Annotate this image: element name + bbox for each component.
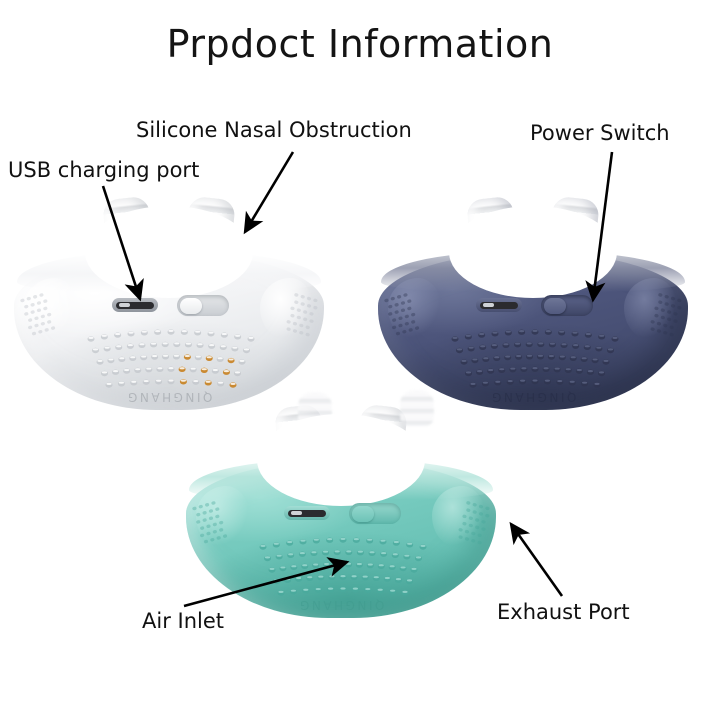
grille-hole-highlight — [582, 382, 587, 384]
side-vent-hole — [658, 293, 663, 297]
side-vent-hole — [667, 317, 672, 321]
grille-hole-highlight — [560, 355, 565, 357]
side-vent-hole — [411, 320, 416, 324]
grille-hole-highlight — [130, 356, 135, 358]
side-vent-hole — [658, 300, 663, 304]
grille-hole-highlight — [291, 565, 296, 567]
side-vent-hole — [292, 321, 297, 325]
grille-hole-highlight — [402, 591, 407, 593]
grille-hole-highlight — [380, 540, 385, 542]
device-teal: QINGHANG — [186, 404, 496, 619]
side-vent-hole — [292, 329, 297, 333]
side-vent-hole — [28, 325, 33, 329]
side-vent-hole — [471, 539, 476, 543]
side-vent-hole — [211, 501, 216, 505]
side-vent-hole — [192, 506, 197, 510]
grille-hole-highlight — [452, 337, 457, 339]
side-vent-hole — [309, 319, 314, 323]
side-vent-hole — [200, 526, 205, 530]
side-vent-hole — [30, 303, 35, 307]
side-vent-hole — [219, 520, 224, 524]
grille-hole-highlight — [573, 344, 578, 346]
side-vent-hole — [477, 540, 482, 544]
grille-hole-highlight — [168, 330, 173, 332]
side-vent-hole — [394, 303, 399, 307]
grille-hole-highlight — [113, 370, 118, 372]
side-vent-hole — [390, 296, 395, 300]
grille-hole-highlight — [378, 589, 383, 591]
grille-hole-highlight — [239, 360, 244, 362]
grille-hole-highlight — [314, 539, 319, 541]
power-switch[interactable] — [177, 295, 229, 316]
grille-hole-highlight — [566, 368, 571, 370]
grille-hole-highlight — [549, 355, 554, 357]
side-vent-hole — [669, 325, 674, 329]
side-vent-hole — [667, 310, 672, 314]
side-vent-hole — [34, 316, 39, 320]
nasal-bridge-notch — [449, 206, 617, 298]
grille-hole-highlight — [285, 578, 290, 580]
grille-hole-highlight — [106, 383, 111, 385]
side-vent-hole — [34, 323, 39, 327]
grille-hole-highlight — [174, 342, 179, 344]
side-vent-hole — [650, 320, 655, 324]
power-switch-knob[interactable] — [180, 298, 202, 314]
grille-hole-highlight — [191, 367, 196, 369]
grille-hole-highlight — [503, 343, 508, 345]
grille-hole-highlight — [400, 566, 405, 568]
side-vent-hole — [650, 327, 655, 331]
grille-hole-highlight — [557, 380, 562, 382]
device-navy: QINGHANG — [378, 196, 688, 411]
usb-port-tongue — [119, 303, 130, 307]
side-vent-hole — [462, 521, 467, 525]
grille-hole-highlight — [88, 337, 93, 339]
grille-hole-highlight — [156, 380, 161, 382]
grille-hole-highlight — [340, 575, 345, 577]
side-vent-hole — [290, 306, 295, 310]
grille-hole-highlight — [466, 335, 471, 337]
side-vent-hole — [479, 504, 484, 508]
grille-hole-highlight — [302, 564, 307, 566]
side-vent-hole — [664, 302, 669, 306]
side-vent-hole — [313, 298, 318, 302]
grille-hole-highlight — [538, 355, 543, 357]
grille-hole-highlight — [532, 379, 537, 381]
product-infographic: Prpdoct Information QINGHANG — [0, 0, 720, 720]
side-vent-hole — [475, 525, 480, 529]
grille-hole-highlight — [358, 551, 363, 553]
grille-hole-highlight — [416, 556, 421, 558]
grille-hole-highlight — [244, 348, 249, 350]
side-vent-hole — [472, 510, 477, 514]
side-vent-hole — [47, 312, 52, 316]
side-vent-hole — [673, 319, 678, 323]
power-switch[interactable] — [349, 503, 401, 524]
grille-hole-highlight — [570, 381, 575, 383]
side-vent-hole — [208, 516, 213, 520]
side-vent-hole — [219, 528, 224, 532]
grille-hole-highlight — [492, 344, 497, 346]
grille-hole-highlight — [357, 563, 362, 565]
side-vent-hole — [407, 299, 412, 303]
side-vent-hole — [28, 318, 33, 322]
power-switch-knob[interactable] — [352, 506, 374, 522]
side-vent-hole — [36, 301, 41, 305]
side-vent-hole — [300, 302, 305, 306]
grille-hole-highlight — [340, 538, 345, 540]
grille-hole-highlight — [582, 357, 587, 359]
side-vent-hole — [299, 323, 304, 327]
side-vent-hole — [663, 331, 668, 335]
grille-hole-highlight — [483, 357, 488, 359]
grille-hole-highlight — [572, 332, 577, 334]
grille-hole-highlight — [174, 355, 179, 357]
grille-hole-highlight — [354, 538, 359, 540]
side-vent-hole — [477, 533, 482, 537]
side-vent-hole — [313, 305, 318, 309]
grille-hole-highlight — [505, 355, 510, 357]
grille-hole-highlight — [532, 330, 537, 332]
grille-hole-highlight — [288, 553, 293, 555]
side-vent-hole — [39, 293, 44, 297]
side-vent-hole — [36, 308, 41, 312]
grille-hole-highlight — [316, 588, 321, 590]
grille-hole-highlight — [477, 370, 482, 372]
nasal-bridge-notch — [257, 414, 425, 506]
side-vent-hole — [26, 296, 31, 300]
grille-hole-highlight — [141, 355, 146, 357]
side-vent-hole — [671, 296, 676, 300]
grille-hole-highlight — [508, 380, 513, 382]
grille-hole-highlight — [480, 345, 485, 347]
grille-hole-highlight — [105, 347, 110, 349]
grille-hole-highlight — [411, 568, 416, 570]
side-vent-hole — [206, 524, 211, 528]
grille-hole-highlight — [208, 332, 213, 334]
grille-hole-highlight — [157, 367, 162, 369]
grille-hole-highlight — [318, 575, 323, 577]
nasal-bridge-notch — [85, 206, 253, 298]
side-vent-hole — [38, 330, 43, 334]
grille-hole-highlight — [469, 347, 474, 349]
side-vent-hole — [303, 317, 308, 321]
grille-hole-highlight — [328, 588, 333, 590]
grille-hole-highlight — [599, 371, 604, 373]
callout-label-exhaust-port: Exhaust Port — [497, 600, 630, 624]
side-vent-hole — [400, 301, 405, 305]
grille-hole-highlight — [230, 383, 235, 385]
device-body-teal: QINGHANG — [186, 460, 496, 618]
brand-wordmark: QINGHANG — [14, 390, 324, 404]
grille-hole-highlight — [532, 367, 537, 369]
grille-hole-highlight — [499, 368, 504, 370]
grille-hole-highlight — [492, 332, 497, 334]
grille-hole-highlight — [185, 355, 190, 357]
grille-hole-highlight — [483, 382, 488, 384]
grille-hole-highlight — [195, 331, 200, 333]
grille-hole-highlight — [577, 369, 582, 371]
grille-hole-highlight — [472, 358, 477, 360]
grille-hole-highlight — [346, 550, 351, 552]
grille-hole-highlight — [300, 540, 305, 542]
side-vent-hole — [656, 329, 661, 333]
side-vent-hole — [392, 318, 397, 322]
page-title: Prpdoct Information — [0, 22, 720, 66]
side-vent-hole — [388, 304, 393, 308]
side-vent-hole — [20, 298, 25, 302]
grille-hole-highlight — [470, 383, 475, 385]
side-vent-hole — [307, 296, 312, 300]
side-vent-hole — [458, 528, 463, 532]
grille-hole-highlight — [146, 367, 151, 369]
grille-hole-highlight — [612, 337, 617, 339]
grille-hole-highlight — [235, 371, 240, 373]
grille-hole-highlight — [323, 551, 328, 553]
side-vent-hole — [44, 328, 49, 332]
side-vent-hole — [208, 509, 213, 513]
grille-hole-highlight — [218, 357, 223, 359]
grille-hole-highlight — [420, 545, 425, 547]
grille-hole-highlight — [182, 330, 187, 332]
grille-hole-highlight — [222, 333, 227, 335]
side-vent-hole — [309, 312, 314, 316]
grille-hole-highlight — [193, 380, 198, 382]
grille-hole-highlight — [280, 566, 285, 568]
side-vent-hole — [397, 295, 402, 299]
grille-hole-highlight — [571, 356, 576, 358]
side-vent-hole — [51, 326, 56, 330]
grille-hole-highlight — [527, 342, 532, 344]
grille-hole-highlight — [179, 367, 184, 369]
side-vent-hole — [660, 308, 665, 312]
grille-hole-highlight — [152, 355, 157, 357]
side-vent-hole — [202, 511, 207, 515]
side-vent-hole — [212, 530, 217, 534]
side-vent-hole — [307, 304, 312, 308]
side-vent-hole — [677, 298, 682, 302]
grille-hole-highlight — [381, 552, 386, 554]
grille-hole-highlight — [274, 579, 279, 581]
grille-hole-highlight — [479, 333, 484, 335]
grille-hole-highlight — [232, 347, 237, 349]
grille-hole-highlight — [390, 590, 395, 592]
grille-hole-highlight — [379, 564, 384, 566]
grille-hole-highlight — [488, 369, 493, 371]
grille-hole-highlight — [494, 356, 499, 358]
grille-hole-highlight — [235, 335, 240, 337]
side-vent-hole — [481, 520, 486, 524]
side-vent-hole — [404, 314, 409, 318]
grille-hole-highlight — [396, 578, 401, 580]
side-vent-hole — [654, 306, 659, 310]
grille-hole-highlight — [516, 355, 521, 357]
side-vent-hole — [471, 531, 476, 535]
side-vent-hole — [300, 295, 305, 299]
side-vent-hole — [472, 503, 477, 507]
grille-hole-highlight — [102, 371, 107, 373]
brand-wordmark: QINGHANG — [186, 598, 496, 612]
grille-hole-highlight — [300, 552, 305, 554]
side-vent-hole — [200, 533, 205, 537]
side-vent-hole — [47, 320, 52, 324]
side-vent-hole — [466, 501, 471, 505]
grille-hole-highlight — [592, 358, 597, 360]
side-vent-hole — [216, 536, 221, 540]
grille-hole-highlight — [385, 577, 390, 579]
grille-hole-highlight — [594, 383, 599, 385]
grille-hole-highlight — [202, 368, 207, 370]
usb-charging-port[interactable] — [476, 298, 522, 312]
power-switch[interactable] — [541, 295, 593, 316]
grille-hole-highlight — [186, 343, 191, 345]
grille-hole-highlight — [151, 343, 156, 345]
grille-hole-highlight — [248, 337, 253, 339]
side-vent-hole — [396, 331, 401, 335]
grille-hole-highlight — [329, 575, 334, 577]
air-inlet-grille — [248, 534, 438, 600]
brand-wordmark: QINGHANG — [378, 390, 688, 404]
side-vent-hole — [196, 520, 201, 524]
side-vent-hole — [411, 312, 416, 316]
grille-hole-highlight — [307, 576, 312, 578]
grille-hole-highlight — [296, 577, 301, 579]
device-body-white: QINGHANG — [14, 252, 324, 410]
side-vent-hole — [677, 305, 682, 309]
grille-hole-highlight — [163, 342, 168, 344]
grille-hole-highlight — [393, 553, 398, 555]
power-switch-knob[interactable] — [544, 298, 566, 314]
grille-hole-highlight — [181, 380, 186, 382]
side-vent-hole — [40, 322, 45, 326]
grille-hole-highlight — [287, 541, 292, 543]
grille-hole-highlight — [278, 591, 283, 593]
grille-hole-highlight — [221, 345, 226, 347]
grille-hole-highlight — [559, 331, 564, 333]
side-vent-hole — [404, 322, 409, 326]
grille-hole-highlight — [224, 370, 229, 372]
grille-hole-highlight — [260, 545, 265, 547]
side-vent-hole — [458, 535, 463, 539]
side-vent-hole — [408, 328, 413, 332]
side-vent-hole — [196, 512, 201, 516]
side-vent-hole — [294, 293, 299, 297]
side-vent-hole — [24, 304, 29, 308]
grille-hole-highlight — [521, 367, 526, 369]
side-vent-hole — [669, 332, 674, 336]
grille-hole-highlight — [596, 347, 601, 349]
side-vent-hole — [305, 325, 310, 329]
grille-hole-highlight — [545, 380, 550, 382]
side-vent-hole — [464, 529, 469, 533]
grille-hole-highlight — [155, 330, 160, 332]
grille-hole-highlight — [124, 369, 129, 371]
side-vent-hole — [398, 323, 403, 327]
grille-hole-highlight — [128, 344, 133, 346]
grille-hole-highlight — [213, 369, 218, 371]
side-vent-hole — [294, 300, 299, 304]
side-vent-hole — [212, 522, 217, 526]
grille-hole-highlight — [207, 356, 212, 358]
grille-hole-highlight — [265, 556, 270, 558]
side-vent-hole — [32, 331, 37, 335]
side-vent-hole — [394, 310, 399, 314]
side-vent-hole — [462, 514, 467, 518]
grille-hole-highlight — [168, 379, 173, 381]
side-vent-hole — [479, 512, 484, 516]
grille-hole-highlight — [93, 348, 98, 350]
side-vent-hole — [656, 321, 661, 325]
grille-hole-highlight — [555, 367, 560, 369]
side-vent-hole — [663, 323, 668, 327]
side-vent-hole — [407, 306, 412, 310]
usb-charging-port[interactable] — [112, 298, 158, 312]
grille-hole-highlight — [335, 563, 340, 565]
side-vent-hole — [303, 310, 308, 314]
grille-hole-highlight — [588, 370, 593, 372]
grille-hole-highlight — [163, 355, 168, 357]
side-vent-hole — [206, 531, 211, 535]
callout-arrow-exhaust-port — [511, 524, 562, 596]
grille-hole-highlight — [527, 355, 532, 357]
grille-hole-highlight — [506, 331, 511, 333]
side-vent-hole — [673, 312, 678, 316]
side-vent-hole — [384, 298, 389, 302]
grille-hole-highlight — [327, 538, 332, 540]
grille-hole-highlight — [206, 381, 211, 383]
grille-hole-highlight — [520, 380, 525, 382]
usb-port-tongue — [291, 511, 302, 515]
grille-hole-highlight — [519, 330, 524, 332]
air-inlet-grille — [76, 326, 266, 392]
grille-hole-highlight — [404, 555, 409, 557]
grille-hole-highlight — [313, 563, 318, 565]
grille-hole-highlight — [119, 357, 124, 359]
grille-hole-highlight — [608, 348, 613, 350]
grille-hole-highlight — [550, 343, 555, 345]
grille-hole-highlight — [209, 344, 214, 346]
grille-hole-highlight — [546, 330, 551, 332]
grille-hole-highlight — [228, 358, 233, 360]
grille-hole-highlight — [139, 343, 144, 345]
side-vent-hole — [654, 313, 659, 317]
grille-hole-highlight — [196, 355, 201, 357]
device-body-navy: QINGHANG — [378, 252, 688, 410]
grille-hole-highlight — [144, 380, 149, 382]
side-vent-hole — [468, 523, 473, 527]
grille-hole-highlight — [466, 371, 471, 373]
side-vent-hole — [485, 506, 490, 510]
usb-charging-port[interactable] — [284, 506, 330, 520]
side-vent-hole — [466, 508, 471, 512]
grille-hole-highlight — [365, 588, 370, 590]
grille-hole-highlight — [115, 333, 120, 335]
side-vent-hole — [398, 316, 403, 320]
side-vent-hole — [392, 325, 397, 329]
grille-hole-highlight — [335, 550, 340, 552]
grille-hole-highlight — [351, 575, 356, 577]
side-vent-hole — [33, 295, 38, 299]
callout-label-power-switch: Power Switch — [530, 121, 670, 145]
side-vent-hole — [660, 315, 665, 319]
grille-hole-highlight — [407, 543, 412, 545]
grille-hole-highlight — [97, 360, 102, 362]
grille-hole-highlight — [277, 555, 282, 557]
grille-hole-highlight — [274, 543, 279, 545]
side-vent-hole — [43, 306, 48, 310]
side-vent-hole — [305, 332, 310, 336]
side-vent-hole — [299, 331, 304, 335]
